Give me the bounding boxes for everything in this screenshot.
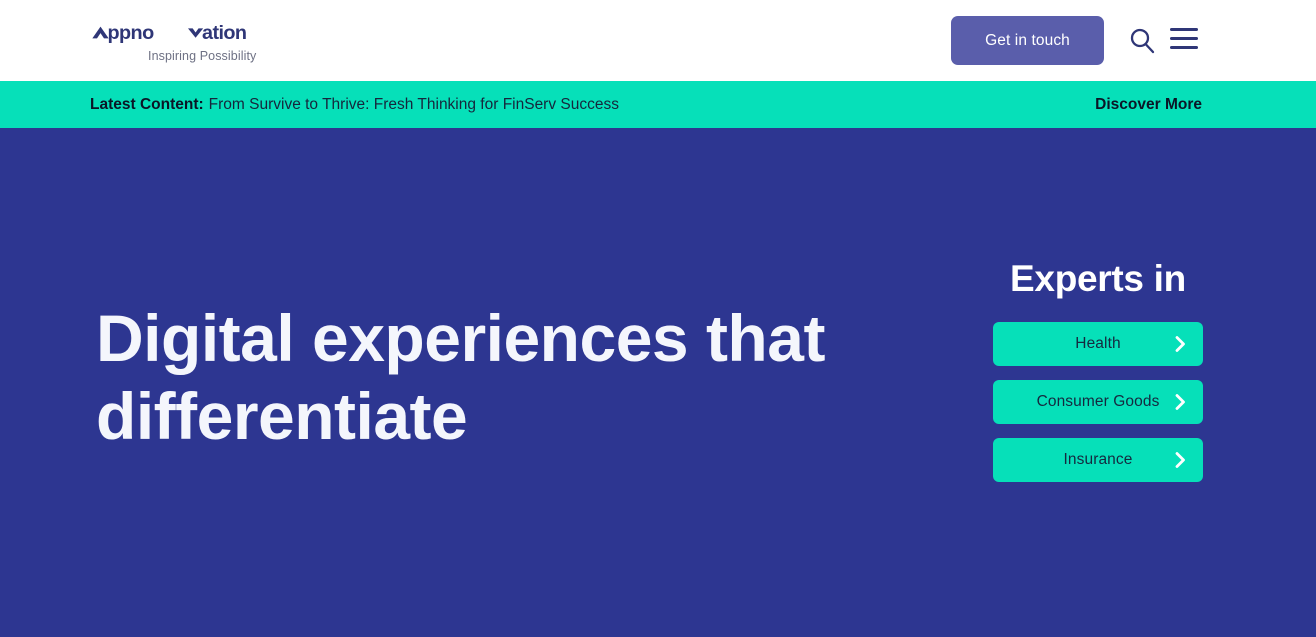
industry-button-health[interactable]: Health <box>993 322 1203 366</box>
hamburger-menu-icon[interactable] <box>1170 28 1198 53</box>
logo[interactable]: ppno ation Inspiring Possibility <box>90 19 330 65</box>
chevron-right-icon <box>1175 452 1186 468</box>
industry-label: Consumer Goods <box>993 380 1203 424</box>
page-root: ppno ation Inspiring Possibility Get in … <box>0 0 1316 637</box>
hero-heading: Digital experiences that differentiate <box>96 300 836 456</box>
chevron-right-icon <box>1175 336 1186 352</box>
banner-label: Latest Content: <box>90 96 204 114</box>
discover-more-link[interactable]: Discover More <box>1095 81 1202 128</box>
svg-text:ppno: ppno <box>108 22 155 44</box>
banner-title: From Survive to Thrive: Fresh Thinking f… <box>209 96 619 114</box>
industry-label: Insurance <box>993 438 1203 482</box>
chevron-right-icon <box>1175 394 1186 410</box>
hero-section: Digital experiences that differentiate E… <box>0 128 1316 637</box>
search-icon[interactable] <box>1127 26 1157 56</box>
menu-line <box>1170 28 1198 31</box>
experts-title: Experts in <box>993 260 1203 297</box>
banner-text[interactable]: Latest Content: From Survive to Thrive: … <box>90 81 619 128</box>
experts-panel: Experts in Health Consumer Goods Insuran… <box>993 260 1203 496</box>
svg-text:ation: ation <box>202 22 246 44</box>
menu-line <box>1170 46 1198 49</box>
industry-button-insurance[interactable]: Insurance <box>993 438 1203 482</box>
get-in-touch-button[interactable]: Get in touch <box>951 16 1104 65</box>
menu-line <box>1170 37 1198 40</box>
site-header: ppno ation Inspiring Possibility Get in … <box>0 0 1316 81</box>
industry-label: Health <box>993 322 1203 366</box>
latest-content-banner: Latest Content: From Survive to Thrive: … <box>0 81 1316 128</box>
appnovation-wordmark-icon: ppno ation <box>90 19 265 46</box>
logo-tagline: Inspiring Possibility <box>148 49 256 63</box>
industry-button-consumer-goods[interactable]: Consumer Goods <box>993 380 1203 424</box>
